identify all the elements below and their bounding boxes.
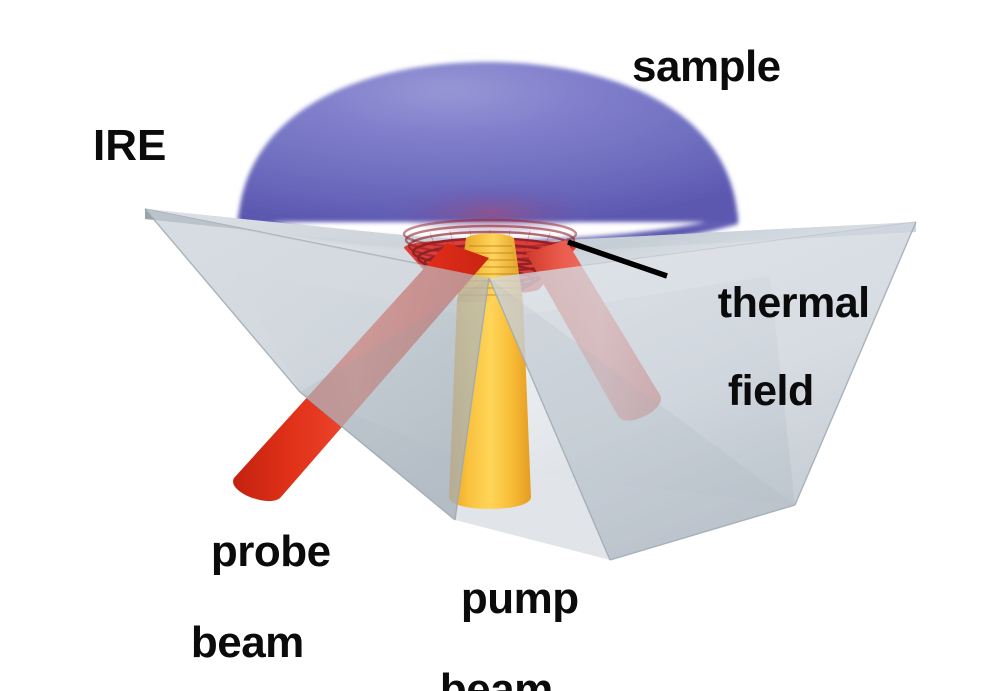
label-thermal-field-line1: thermal [718,279,870,327]
label-probe-beam: probe beam [164,487,331,691]
label-pump-beam: pump beam [414,534,579,691]
label-thermal-field: thermal field [672,240,870,497]
label-pump-beam-line2: beam [414,668,579,691]
label-ire: IRE [93,124,166,167]
label-pump-beam-line1: pump [461,574,579,623]
label-sample: sample [632,45,781,88]
label-probe-beam-line2: beam [164,621,331,664]
label-thermal-field-line2: field [672,370,870,412]
figure-canvas: sample IRE thermal field probe beam pump… [0,0,982,691]
label-probe-beam-line1: probe [211,527,331,576]
